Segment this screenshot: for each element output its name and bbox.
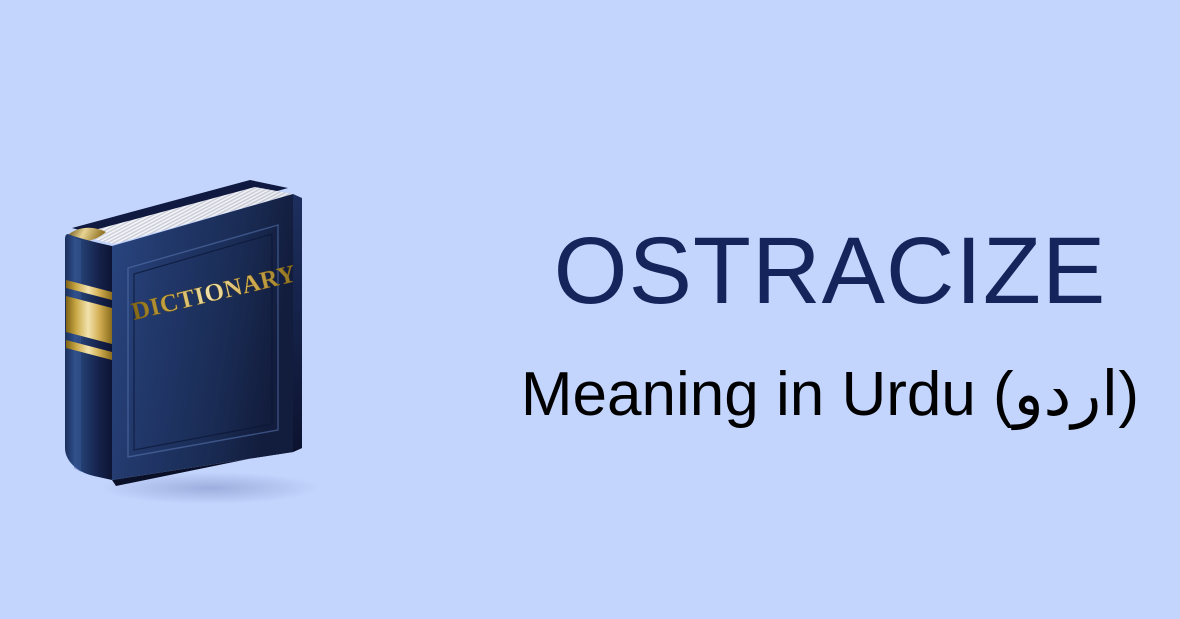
page-root: DICTIONARY OSTRACIZE Meaning in Urdu (ار… (0, 0, 1180, 619)
dictionary-book-illustration: DICTIONARY (50, 130, 330, 510)
subtitle-text: Meaning in Urdu ( (521, 360, 1014, 429)
book-spine (65, 234, 112, 480)
book-front-cover: DICTIONARY (112, 194, 302, 486)
subtitle-line: Meaning in Urdu (اردو) (521, 322, 1139, 429)
word-meaning-text-block: OSTRACIZE Meaning in Urdu (اردو) (480, 200, 1180, 460)
subtitle-close-paren: ) (1118, 360, 1139, 429)
subtitle-urdu-text: اردو (1014, 357, 1119, 430)
page-title: OSTRACIZE (554, 200, 1107, 322)
